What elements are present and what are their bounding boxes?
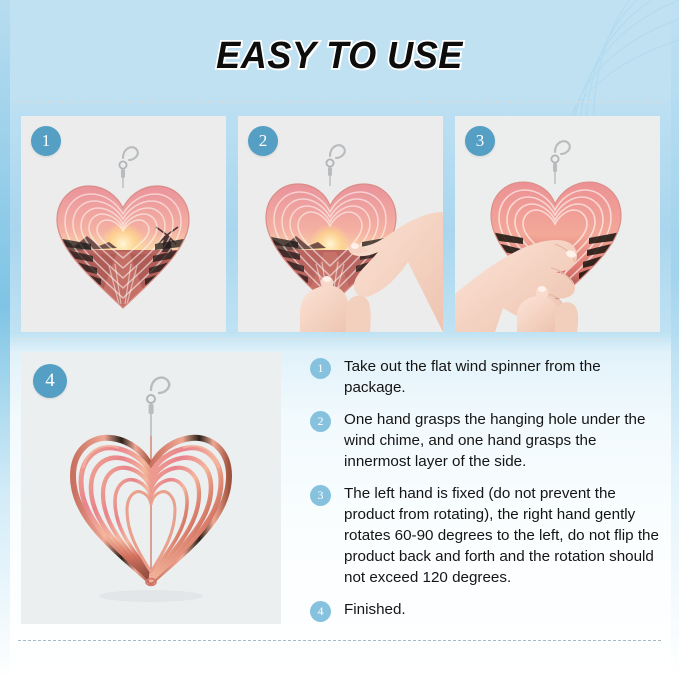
panel-badge-2: 2 [248,126,278,156]
header: EASY TO USE [0,0,679,100]
instruction-step-4: 4 Finished. [310,599,662,620]
step-number-1: 1 [310,358,331,379]
page-title: EASY TO USE [17,34,662,78]
panel-badge-1: 1 [31,126,61,156]
left-edge-gradient [0,0,10,679]
panel-badge-3: 3 [465,126,495,156]
step-text-4: Finished. [344,599,662,620]
photo-row: 1 [0,116,679,332]
instruction-step-1: 1 Take out the flat wind spinner from th… [310,356,662,398]
panel-badge-4: 4 [33,364,67,398]
step-text-3: The left hand is fixed (do not prevent t… [344,483,662,588]
step-text-2: One hand grasps the hanging hole under t… [344,409,662,472]
step-text-1: Take out the flat wind spinner from the … [344,356,662,398]
step-photo-1[interactable]: 1 [21,116,226,332]
instruction-step-3: 3 The left hand is fixed (do not prevent… [310,483,662,588]
step-number-4: 4 [310,601,331,622]
divider-top [18,101,661,103]
step-photo-3[interactable]: 3 [455,116,660,332]
right-edge-gradient [671,0,679,679]
divider-middle [18,338,661,340]
step-photo-4[interactable]: 4 [21,352,281,624]
step-photo-2[interactable]: 2 [238,116,443,332]
instruction-step-2: 2 One hand grasps the hanging hole under… [310,409,662,472]
infographic-page: EASY TO USE [0,0,679,679]
step-number-2: 2 [310,411,331,432]
step-number-3: 3 [310,485,331,506]
instruction-list: 1 Take out the flat wind spinner from th… [310,356,662,620]
divider-bottom [18,640,661,641]
